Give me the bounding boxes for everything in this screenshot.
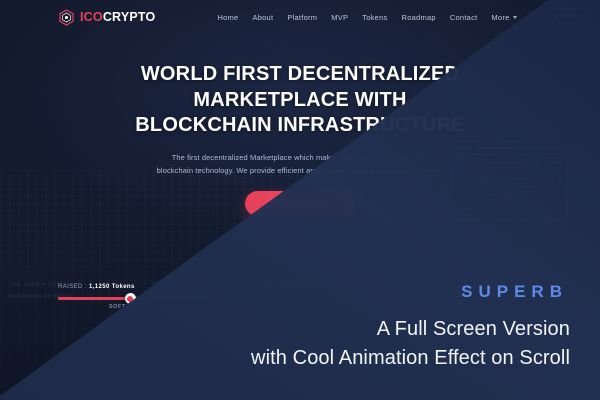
nav-item-platform[interactable]: Platform bbox=[287, 13, 317, 22]
hero-section: WORLD FIRST DECENTRALIZED MARKETPLACE WI… bbox=[0, 62, 600, 216]
hero-description: The first decentralized Marketplace whic… bbox=[155, 151, 445, 177]
brand-name-secondary: CRYPTO bbox=[103, 10, 156, 24]
promo-line-2: with Cool Animation Effect on Scroll bbox=[251, 344, 570, 372]
raise-progress-slider[interactable] bbox=[58, 297, 208, 300]
template-preview-screenshot: THE TOKEN SALE distribution of tokens OU… bbox=[0, 0, 600, 400]
nav-item-more[interactable]: More bbox=[491, 13, 516, 22]
main-navigation: Home About Platform MVP Tokens Roadmap C… bbox=[217, 8, 591, 27]
nav-item-about[interactable]: About bbox=[252, 13, 273, 22]
raised-label: RAISED : 1,1250 Tokens bbox=[58, 284, 208, 290]
raise-progress-fill bbox=[58, 297, 130, 300]
chevron-down-icon bbox=[513, 16, 517, 19]
promo-line-1: A Full Screen Version bbox=[251, 315, 570, 343]
nav-item-more-label: More bbox=[491, 13, 509, 22]
ghost-text: THE TOKEN SALE bbox=[8, 282, 65, 288]
login-button[interactable]: LOGIN bbox=[543, 8, 592, 27]
nav-item-roadmap[interactable]: Roadmap bbox=[402, 13, 436, 22]
nav-item-contact[interactable]: Contact bbox=[450, 13, 478, 22]
nav-item-mvp[interactable]: MVP bbox=[331, 13, 348, 22]
brand-name-primary: ICO bbox=[80, 10, 103, 24]
private-sale-button[interactable]: PRIVATE SALE bbox=[245, 191, 355, 216]
nav-item-home[interactable]: Home bbox=[217, 13, 238, 22]
brand-name: ICOCRYPTO bbox=[80, 11, 155, 24]
token-raise-widget: RAISED : 1,1250 Tokens SOFT CAP bbox=[58, 284, 208, 300]
hexagon-logo-icon bbox=[58, 9, 75, 26]
promo-overlay-text: SUPERB A Full Screen Version with Cool A… bbox=[251, 283, 570, 372]
raised-label-value: 1,1250 Tokens bbox=[89, 284, 135, 290]
raised-label-key: RAISED : bbox=[58, 284, 87, 290]
brand-logo[interactable]: ICOCRYPTO bbox=[58, 9, 155, 26]
site-header: ICOCRYPTO Home About Platform MVP Tokens… bbox=[0, 0, 600, 34]
promo-kicker: SUPERB bbox=[251, 283, 570, 300]
hero-title: WORLD FIRST DECENTRALIZED MARKETPLACE WI… bbox=[135, 62, 465, 139]
soft-cap-label: SOFT CAP bbox=[109, 304, 141, 310]
nav-item-tokens[interactable]: Tokens bbox=[362, 13, 387, 22]
